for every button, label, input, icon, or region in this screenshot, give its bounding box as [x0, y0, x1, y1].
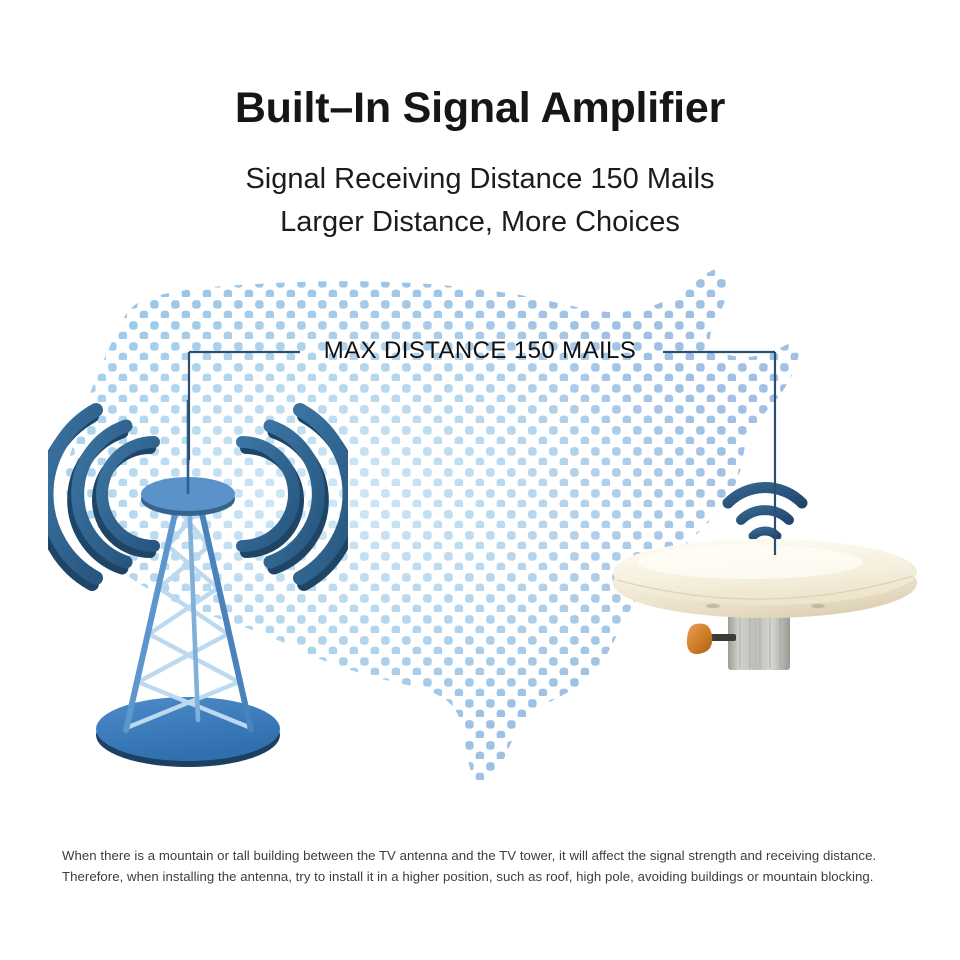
- page-title: Built–In Signal Amplifier: [0, 84, 960, 133]
- max-distance-label: MAX DISTANCE 150 MAILS: [0, 337, 960, 365]
- footnote-text: When there is a mountain or tall buildin…: [62, 845, 902, 888]
- product-feature-banner: Built–In Signal Amplifier Signal Receivi…: [0, 0, 960, 960]
- subtitle-line-2: Larger Distance, More Choices: [0, 206, 960, 239]
- subtitle-line-1: Signal Receiving Distance 150 Mails: [0, 163, 960, 196]
